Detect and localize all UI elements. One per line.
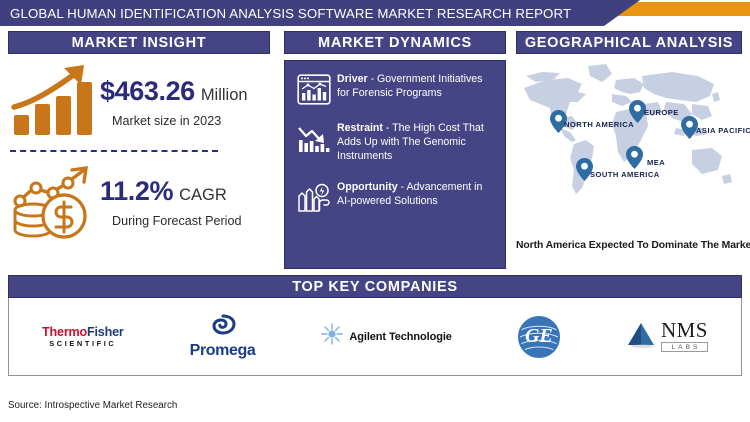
market-dynamics-section: MARKET DYNAMICS bbox=[284, 31, 506, 269]
cagr-value: 11.2% bbox=[100, 176, 173, 207]
map-label-mea: MEA bbox=[647, 158, 665, 167]
thermo-fisher-word2: Fisher bbox=[87, 325, 124, 339]
dashboard-chart-icon bbox=[293, 72, 335, 105]
promega-name: Promega bbox=[190, 342, 256, 360]
dynamics-restraint-sep: - bbox=[383, 122, 392, 134]
company-logo-agilent[interactable]: Agilent Technologie bbox=[321, 323, 451, 350]
coins-growth-icon bbox=[8, 158, 100, 245]
dynamics-item-opportunity: Opportunity - Advancement in AI-powered … bbox=[293, 180, 497, 213]
map-label-north-america: NORTH AMERICA bbox=[564, 120, 634, 129]
company-logo-nms-labs[interactable]: NMS LABS bbox=[626, 320, 708, 353]
nms-pyramid-icon bbox=[626, 320, 656, 353]
dynamics-restraint-text: Restraint - The High Cost That Adds Up w… bbox=[335, 121, 497, 164]
dynamics-item-restraint: Restraint - The High Cost That Adds Up w… bbox=[293, 121, 497, 164]
dynamics-opportunity-label: Opportunity bbox=[337, 181, 398, 193]
market-size-value: $463.26 bbox=[100, 76, 195, 107]
promega-swirl-icon bbox=[209, 314, 237, 341]
ge-name: GE bbox=[525, 325, 553, 348]
market-insight-section: MARKET INSIGHT $463.26 Mi bbox=[8, 31, 270, 245]
bar-chart-growth-icon bbox=[8, 60, 100, 143]
declining-bars-icon bbox=[293, 121, 335, 154]
report-title: GLOBAL HUMAN IDENTIFICATION ANALYSIS SOF… bbox=[0, 6, 571, 21]
nms-name: NMS bbox=[661, 321, 708, 341]
market-insight-heading: MARKET INSIGHT bbox=[8, 31, 270, 54]
company-logos-row: ThermoFisher SCIENTIFIC Promega bbox=[8, 298, 742, 376]
geographical-analysis-heading: GEOGRAPHICAL ANALYSIS bbox=[516, 31, 742, 54]
dynamics-restraint-label: Restraint bbox=[337, 122, 383, 134]
map-caption: North America Expected To Dominate The M… bbox=[516, 240, 742, 251]
company-logo-promega[interactable]: Promega bbox=[190, 314, 256, 360]
ge-monogram-icon: GE bbox=[518, 316, 560, 358]
dynamics-opportunity-text: Opportunity - Advancement in AI-powered … bbox=[335, 180, 497, 209]
agilent-starburst-icon bbox=[321, 323, 343, 350]
top-key-companies-section: TOP KEY COMPANIES ThermoFisher SCIENTIFI… bbox=[8, 275, 742, 376]
market-size-unit: Million bbox=[201, 86, 248, 105]
map-label-asia-pacific: ASIA PACIFIC bbox=[696, 126, 750, 135]
dynamics-driver-sep: - bbox=[368, 73, 377, 85]
geographical-analysis-section: GEOGRAPHICAL ANALYSIS bbox=[516, 31, 742, 251]
market-size-caption: Market size in 2023 bbox=[112, 114, 248, 128]
map-label-europe: EUROPE bbox=[644, 108, 679, 117]
market-size-stat: $463.26 Million Market size in 2023 bbox=[8, 60, 270, 143]
cagr-stat: 11.2% CAGR During Forecast Period bbox=[8, 158, 270, 245]
market-dynamics-panel: Driver - Government Initiatives for Fore… bbox=[284, 60, 506, 269]
banner-navy-shape: GLOBAL HUMAN IDENTIFICATION ANALYSIS SOF… bbox=[0, 0, 640, 26]
top-banner: GLOBAL HUMAN IDENTIFICATION ANALYSIS SOF… bbox=[0, 0, 750, 26]
agilent-name: Agilent Technologie bbox=[349, 331, 451, 343]
growth-hand-idea-icon bbox=[293, 180, 335, 213]
nms-subtitle: LABS bbox=[661, 342, 708, 352]
source-note: Source: Introspective Market Research bbox=[8, 400, 177, 411]
company-logo-general-electric[interactable]: GE bbox=[518, 316, 560, 358]
world-map: NORTH AMERICA EUROPE ASIA PACIFIC bbox=[516, 58, 742, 238]
infographic-root: GLOBAL HUMAN IDENTIFICATION ANALYSIS SOF… bbox=[0, 0, 750, 422]
top-key-companies-heading: TOP KEY COMPANIES bbox=[8, 275, 742, 298]
market-size-text: $463.26 Million Market size in 2023 bbox=[100, 76, 248, 128]
thermo-fisher-word1: Thermo bbox=[42, 325, 87, 339]
cagr-caption: During Forecast Period bbox=[112, 214, 242, 228]
dynamics-driver-label: Driver bbox=[337, 73, 368, 85]
cagr-unit: CAGR bbox=[179, 186, 227, 205]
company-logo-thermo-fisher[interactable]: ThermoFisher SCIENTIFIC bbox=[42, 326, 124, 348]
map-label-south-america: SOUTH AMERICA bbox=[590, 170, 660, 179]
thermo-fisher-subtitle: SCIENTIFIC bbox=[49, 340, 116, 347]
stat-divider bbox=[10, 150, 218, 152]
market-dynamics-heading: MARKET DYNAMICS bbox=[284, 31, 506, 54]
dynamics-item-driver: Driver - Government Initiatives for Fore… bbox=[293, 72, 497, 105]
dynamics-driver-text: Driver - Government Initiatives for Fore… bbox=[335, 72, 497, 101]
cagr-text: 11.2% CAGR During Forecast Period bbox=[100, 176, 242, 228]
